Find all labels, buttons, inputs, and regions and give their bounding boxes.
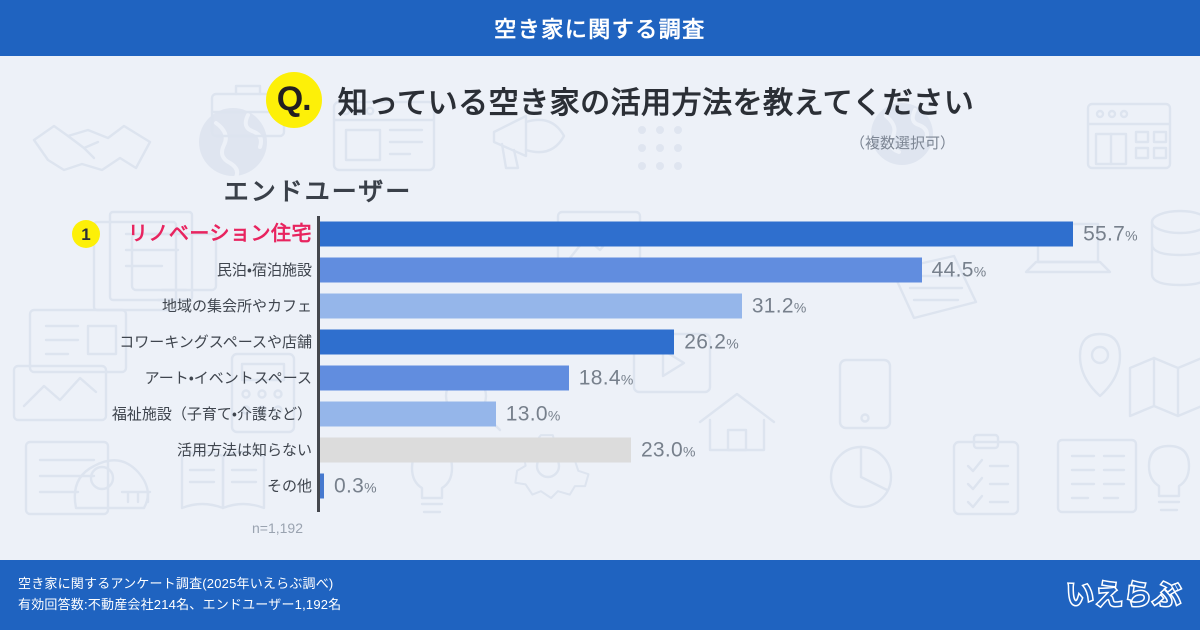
chart-row-label: リノベーション住宅 [12, 224, 312, 244]
chart-value-number: 55.7 [1083, 223, 1125, 246]
chart-value-label: 44.5% [932, 260, 987, 281]
chart-value-unit: % [548, 408, 561, 424]
question-text: 知っている空き家の活用方法を教えてください [338, 78, 975, 122]
poster-canvas: 空き家に関する調査 Q. 知っている空き家の活用方法を教えてください （複数選択… [0, 0, 1200, 630]
chart-bar-group: 44.5% [320, 258, 986, 283]
footer-line-2: 有効回答数:不動産会社214名、エンドユーザー1,192名 [18, 594, 341, 615]
chart-value-unit: % [621, 372, 634, 388]
chart-row: 民泊・宿泊施設44.5% [0, 252, 1200, 288]
chart-row: 1リノベーション住宅55.7% [0, 216, 1200, 252]
question-badge-label: Q. [277, 82, 311, 119]
bar-chart: 1リノベーション住宅55.7%民泊・宿泊施設44.5%地域の集会所やカフェ31.… [0, 216, 1200, 526]
chart-value-number: 0.3 [334, 475, 364, 498]
chart-value-label: 31.2% [752, 296, 807, 317]
chart-row-label: 活用方法は知らない [12, 443, 312, 458]
page-title: 空き家に関する調査 [494, 12, 706, 44]
chart-bar-group: 18.4% [320, 366, 634, 391]
footer-notes: 空き家に関するアンケート調査(2025年いえらぶ調べ) 有効回答数:不動産会社2… [18, 573, 341, 616]
chart-row: 地域の集会所やカフェ31.2% [0, 288, 1200, 324]
chart-bar-group: 23.0% [320, 438, 696, 463]
chart-bar [320, 474, 324, 499]
chart-bar-group: 26.2% [320, 330, 739, 355]
header-bar: 空き家に関する調査 [0, 0, 1200, 56]
chart-value-unit: % [726, 336, 739, 352]
chart-value-number: 26.2 [684, 331, 726, 354]
chart-row: コワーキングスペースや店舗26.2% [0, 324, 1200, 360]
chart-value-label: 13.0% [506, 404, 561, 425]
chart-rows: 1リノベーション住宅55.7%民泊・宿泊施設44.5%地域の集会所やカフェ31.… [0, 216, 1200, 504]
chart-bar-group: 0.3% [320, 474, 377, 499]
chart-bar [320, 258, 922, 283]
chart-bar [320, 402, 496, 427]
chart-value-unit: % [364, 480, 377, 496]
footer-bar: 空き家に関するアンケート調査(2025年いえらぶ調べ) 有効回答数:不動産会社2… [0, 560, 1200, 630]
chart-row: その他0.3% [0, 468, 1200, 504]
footer-line-1: 空き家に関するアンケート調査(2025年いえらぶ調べ) [18, 573, 341, 594]
chart-bar [320, 366, 569, 391]
chart-value-unit: % [794, 300, 807, 316]
chart-row-label: 民泊・宿泊施設 [12, 263, 312, 278]
chart-value-number: 31.2 [752, 295, 794, 318]
question-block: Q. 知っている空き家の活用方法を教えてください （複数選択可） [0, 72, 1200, 153]
chart-bar-group: 13.0% [320, 402, 561, 427]
chart-row: アート・イベントスペース18.4% [0, 360, 1200, 396]
question-badge: Q. [266, 72, 322, 128]
brand-logo: いえらぶ [1066, 576, 1182, 614]
brand-logo-text: いえらぶ [1066, 581, 1182, 609]
chart-axis-line [317, 216, 320, 512]
chart-value-label: 26.2% [684, 332, 739, 353]
chart-bar [320, 294, 742, 319]
question-note: （複数選択可） [0, 132, 1200, 153]
chart-bar-group: 31.2% [320, 294, 807, 319]
chart-value-number: 44.5 [932, 259, 974, 282]
chart-bar [320, 438, 631, 463]
chart-bar [320, 330, 674, 355]
chart-value-number: 18.4 [579, 367, 621, 390]
chart-value-unit: % [974, 264, 987, 280]
chart-value-label: 55.7% [1083, 224, 1138, 245]
section-label: エンドユーザー [0, 172, 636, 208]
chart-row-label: アート・イベントスペース [12, 371, 312, 386]
chart-row-label: コワーキングスペースや店舗 [12, 335, 312, 350]
chart-row-label: その他 [12, 479, 312, 494]
chart-row-label: 地域の集会所やカフェ [12, 299, 312, 314]
chart-row: 福祉施設（子育て・介護など）13.0% [0, 396, 1200, 432]
chart-value-number: 23.0 [641, 439, 683, 462]
chart-row: 活用方法は知らない23.0% [0, 432, 1200, 468]
chart-value-label: 0.3% [334, 476, 377, 497]
chart-value-number: 13.0 [506, 403, 548, 426]
question-line: Q. 知っている空き家の活用方法を教えてください [0, 72, 1200, 128]
chart-value-label: 23.0% [641, 440, 696, 461]
chart-value-label: 18.4% [579, 368, 634, 389]
chart-value-unit: % [683, 444, 696, 460]
chart-bar [320, 222, 1073, 247]
chart-value-unit: % [1125, 228, 1138, 244]
sample-size-label: n=1,192 [252, 520, 303, 536]
chart-row-label: 福祉施設（子育て・介護など） [12, 407, 312, 422]
chart-bar-group: 55.7% [320, 222, 1138, 247]
